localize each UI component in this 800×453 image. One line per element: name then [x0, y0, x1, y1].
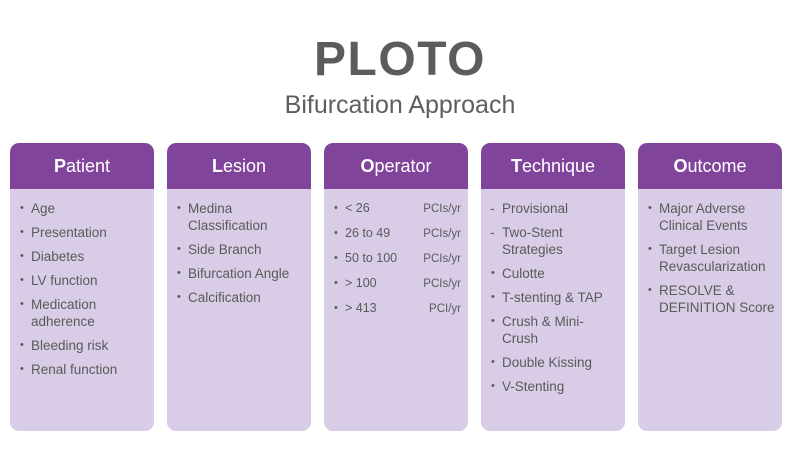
list-item-label: Provisional [502, 200, 618, 217]
title-block: PLOTO Bifurcation Approach [0, 34, 800, 120]
operator-volume-row: > 413PCI/yr [345, 300, 461, 318]
list-item: •Renal function [17, 361, 147, 385]
list-item-label: Double Kissing [502, 354, 618, 371]
card-title-patient: Patient [54, 156, 110, 176]
card-header-lesion: Lesion [167, 143, 311, 189]
list-item: •Age [17, 200, 147, 224]
item-list-patient: •Age•Presentation•Diabetes•LV function•M… [17, 200, 147, 385]
operator-volume-value: 50 to 100 [345, 250, 397, 267]
card-title-initial-outcome: O [673, 156, 687, 176]
operator-volume-value: 26 to 49 [345, 225, 390, 242]
list-item-label: Age [31, 200, 147, 217]
list-item-label: V-Stenting [502, 378, 618, 395]
operator-volume-unit: PCIs/yr [423, 226, 461, 243]
card-body-technique: -Provisional-Two-Stent Strategies•Culott… [481, 189, 625, 431]
card-title-technique: Technique [511, 156, 595, 176]
list-item: •Major Adverse Clinical Events [645, 200, 775, 241]
list-item-label: LV function [31, 272, 147, 289]
bullet-icon: • [648, 200, 652, 217]
list-item: •Crush & Mini-Crush [488, 313, 618, 354]
list-item: •Culotte [488, 265, 618, 289]
list-item: •RESOLVE & DEFINITION Score [645, 282, 775, 323]
bullet-icon: • [177, 289, 181, 306]
list-item-label: Target Lesion Revascularization [659, 241, 775, 275]
list-item-label: Calcification [188, 289, 304, 306]
list-item-label: Side Branch [188, 241, 304, 258]
operator-volume-value: < 26 [345, 200, 370, 217]
card-title-initial-technique: T [511, 156, 522, 176]
operator-volume-row: 50 to 100PCIs/yr [345, 250, 461, 268]
bullet-icon: • [177, 265, 181, 282]
list-item-label: Medication adherence [31, 296, 147, 330]
operator-volume-unit: PCIs/yr [423, 201, 461, 218]
list-item: -Provisional [488, 200, 618, 224]
list-item: •Medication adherence [17, 296, 147, 337]
list-item: •Side Branch [174, 241, 304, 265]
list-item-label: Diabetes [31, 248, 147, 265]
bullet-icon: • [177, 200, 181, 217]
card-title-lesion: Lesion [212, 156, 266, 176]
card-operator: Operator•< 26PCIs/yr•26 to 49PCIs/yr•50 … [324, 143, 468, 431]
list-item: •Calcification [174, 289, 304, 313]
card-title-rest-patient: atient [66, 156, 110, 176]
operator-volume-row: < 26PCIs/yr [345, 200, 461, 218]
operator-volume-row: > 100PCIs/yr [345, 275, 461, 293]
list-item: •Bleeding risk [17, 337, 147, 361]
operator-volume-unit: PCI/yr [429, 301, 461, 318]
dash-icon: - [490, 200, 495, 217]
list-item: •26 to 49PCIs/yr [331, 225, 461, 250]
card-header-technique: Technique [481, 143, 625, 189]
list-item-label: T-stenting & TAP [502, 289, 618, 306]
bullet-icon: • [491, 265, 495, 282]
card-title-initial-operator: O [360, 156, 374, 176]
card-title-rest-outcome: utcome [687, 156, 746, 176]
bullet-icon: • [334, 200, 338, 217]
list-item-label: Medina Classification [188, 200, 304, 234]
bullet-icon: • [491, 354, 495, 371]
card-title-rest-operator: perator [374, 156, 431, 176]
ploto-infographic: PLOTO Bifurcation Approach Patient•Age•P… [0, 0, 800, 453]
list-item-label: Crush & Mini-Crush [502, 313, 618, 347]
operator-volume-unit: PCIs/yr [423, 276, 461, 293]
card-title-rest-technique: echnique [522, 156, 595, 176]
item-list-operator: •< 26PCIs/yr•26 to 49PCIs/yr•50 to 100PC… [331, 200, 461, 325]
list-item-label: Culotte [502, 265, 618, 282]
operator-volume-row: 26 to 49PCIs/yr [345, 225, 461, 243]
list-item: •Medina Classification [174, 200, 304, 241]
operator-volume-value: > 100 [345, 275, 377, 292]
item-list-outcome: •Major Adverse Clinical Events•Target Le… [645, 200, 775, 323]
list-item: •Bifurcation Angle [174, 265, 304, 289]
list-item: •< 26PCIs/yr [331, 200, 461, 225]
bullet-icon: • [20, 272, 24, 289]
list-item: •LV function [17, 272, 147, 296]
bullet-icon: • [648, 282, 652, 299]
bullet-icon: • [20, 361, 24, 378]
bullet-icon: • [20, 337, 24, 354]
card-title-rest-lesion: esion [223, 156, 266, 176]
operator-volume-unit: PCIs/yr [423, 251, 461, 268]
card-patient: Patient•Age•Presentation•Diabetes•LV fun… [10, 143, 154, 431]
item-list-lesion: •Medina Classification•Side Branch•Bifur… [174, 200, 304, 313]
operator-volume-value: > 413 [345, 300, 377, 317]
bullet-icon: • [20, 248, 24, 265]
list-item: •T-stenting & TAP [488, 289, 618, 313]
card-header-patient: Patient [10, 143, 154, 189]
list-item: •> 100PCIs/yr [331, 275, 461, 300]
card-body-lesion: •Medina Classification•Side Branch•Bifur… [167, 189, 311, 431]
card-body-operator: •< 26PCIs/yr•26 to 49PCIs/yr•50 to 100PC… [324, 189, 468, 431]
bullet-icon: • [491, 378, 495, 395]
card-title-operator: Operator [360, 156, 431, 176]
card-body-patient: •Age•Presentation•Diabetes•LV function•M… [10, 189, 154, 431]
card-outcome: Outcome•Major Adverse Clinical Events•Ta… [638, 143, 782, 431]
bullet-icon: • [20, 296, 24, 313]
bullet-icon: • [334, 225, 338, 242]
list-item: -Two-Stent Strategies [488, 224, 618, 265]
card-title-initial-patient: P [54, 156, 66, 176]
bullet-icon: • [334, 300, 338, 317]
list-item-label: RESOLVE & DEFINITION Score [659, 282, 775, 316]
card-title-outcome: Outcome [673, 156, 746, 176]
list-item: •Diabetes [17, 248, 147, 272]
card-title-initial-lesion: L [212, 156, 223, 176]
list-item-label: Bleeding risk [31, 337, 147, 354]
list-item-label: Bifurcation Angle [188, 265, 304, 282]
dash-icon: - [490, 224, 495, 241]
list-item: •Target Lesion Revascularization [645, 241, 775, 282]
list-item-label: Two-Stent Strategies [502, 224, 618, 258]
list-item-label: Major Adverse Clinical Events [659, 200, 775, 234]
bullet-icon: • [177, 241, 181, 258]
bullet-icon: • [20, 224, 24, 241]
bullet-icon: • [20, 200, 24, 217]
list-item: •> 413PCI/yr [331, 300, 461, 325]
card-header-outcome: Outcome [638, 143, 782, 189]
list-item: •Double Kissing [488, 354, 618, 378]
card-row: Patient•Age•Presentation•Diabetes•LV fun… [10, 143, 790, 431]
bullet-icon: • [491, 289, 495, 306]
page-subtitle: Bifurcation Approach [0, 90, 800, 120]
list-item-label: Renal function [31, 361, 147, 378]
item-list-technique: -Provisional-Two-Stent Strategies•Culott… [488, 200, 618, 402]
bullet-icon: • [334, 250, 338, 267]
list-item: • V-Stenting [488, 378, 618, 402]
card-header-operator: Operator [324, 143, 468, 189]
bullet-icon: • [648, 241, 652, 258]
bullet-icon: • [491, 313, 495, 330]
card-body-outcome: •Major Adverse Clinical Events•Target Le… [638, 189, 782, 431]
list-item: •Presentation [17, 224, 147, 248]
card-lesion: Lesion•Medina Classification•Side Branch… [167, 143, 311, 431]
list-item: •50 to 100PCIs/yr [331, 250, 461, 275]
bullet-icon: • [334, 275, 338, 292]
page-title: PLOTO [0, 34, 800, 86]
list-item-label: Presentation [31, 224, 147, 241]
card-technique: Technique-Provisional-Two-Stent Strategi… [481, 143, 625, 431]
